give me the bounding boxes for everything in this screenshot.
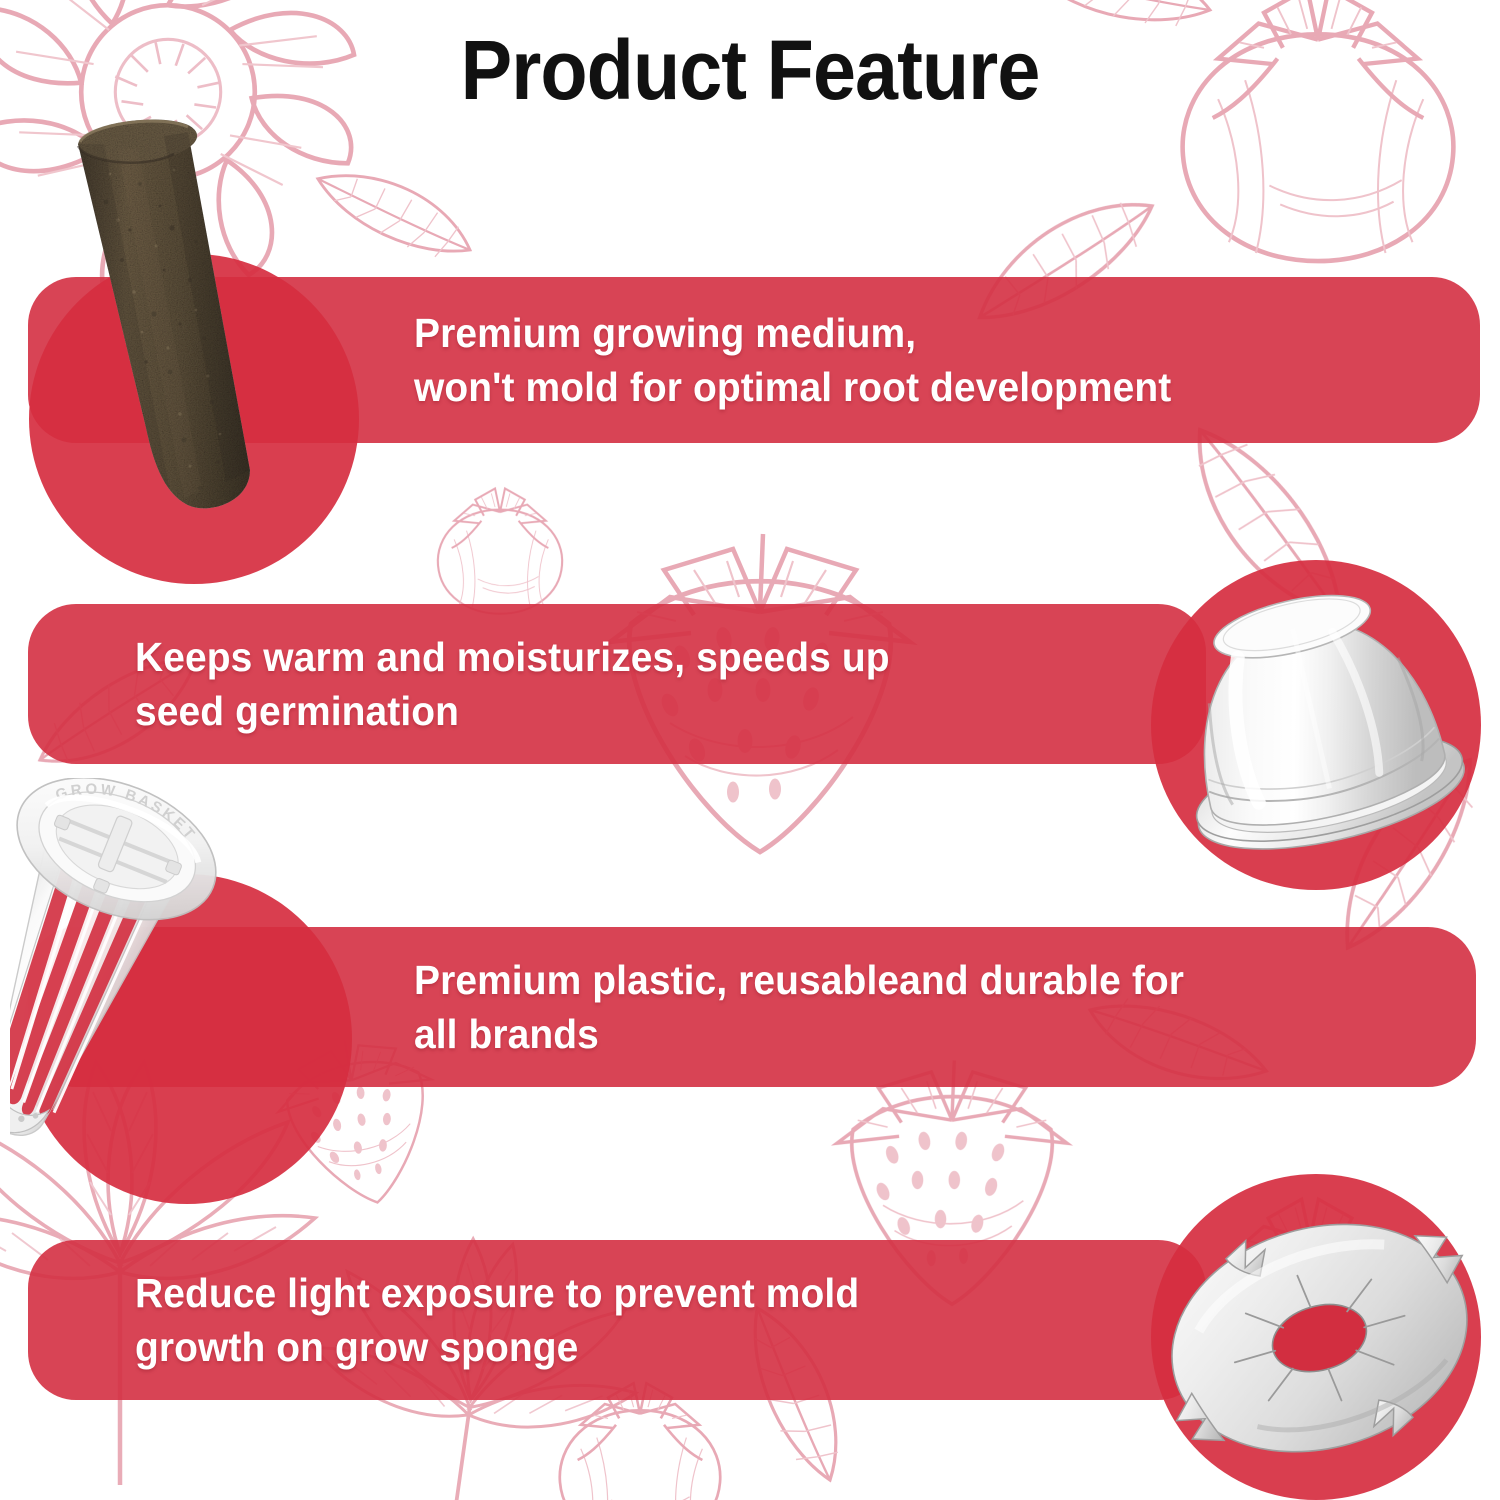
feature-text-warm-moist: Keeps warm and moisturizes, speeds up se…	[135, 630, 890, 738]
product-feature-infographic: Product Feature Premium growing medium, …	[0, 0, 1500, 1500]
feature-banner-reduce-light: Reduce light exposure to prevent mold gr…	[28, 1240, 1206, 1400]
basket-emboss-label: GROW BASKET	[49, 778, 207, 857]
feature-text-growing-medium: Premium growing medium, won't mold for o…	[414, 306, 1171, 414]
feature-circle-2	[1151, 560, 1481, 890]
page-title: Product Feature	[60, 22, 1440, 119]
feature-text-premium-plastic: Premium plastic, reusableand durable for…	[414, 953, 1184, 1061]
svg-text:GROW BASKET: GROW BASKET	[49, 778, 207, 857]
feature-circle-1	[29, 254, 359, 584]
feature-circle-4	[1151, 1174, 1481, 1500]
feature-circle-3	[22, 874, 352, 1204]
feature-banner-warm-moist: Keeps warm and moisturizes, speeds up se…	[28, 604, 1206, 764]
feature-text-reduce-light: Reduce light exposure to prevent mold gr…	[135, 1266, 859, 1374]
